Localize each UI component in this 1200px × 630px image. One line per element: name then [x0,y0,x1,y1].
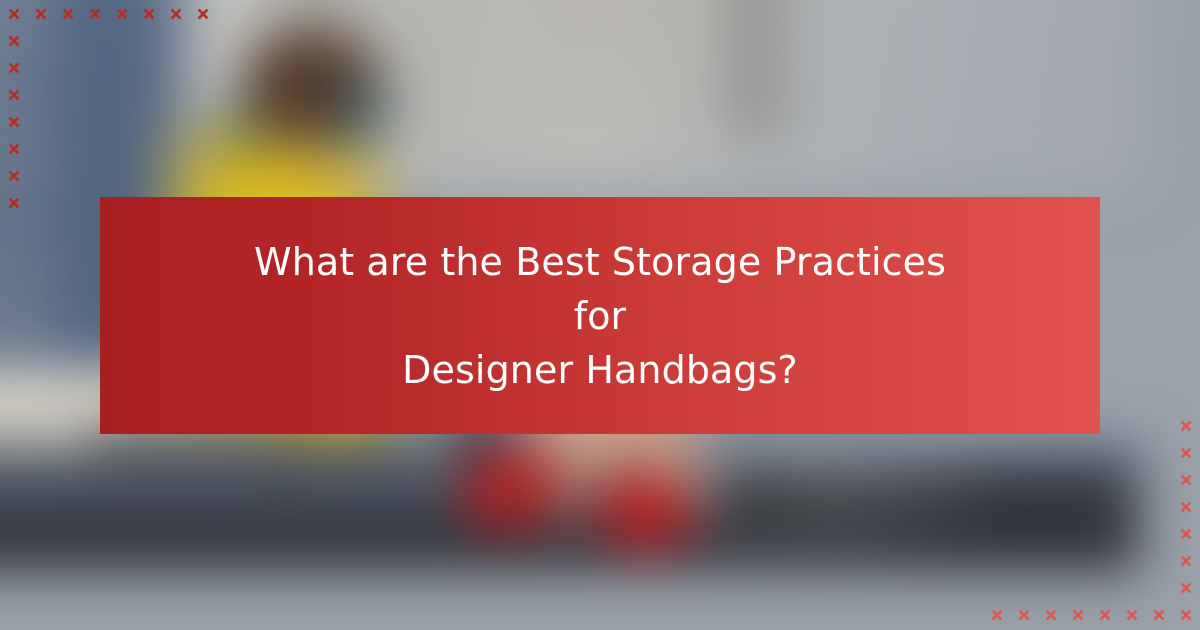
cross-x-icon [189,54,216,81]
cross-x-icon [1145,574,1172,601]
cross-x-icon [27,189,54,216]
decorative-x-grid-top-left [0,0,216,216]
cross-x-icon [54,81,81,108]
cross-x-icon [1145,601,1172,628]
cross-x-icon [135,81,162,108]
cross-x-icon [1010,520,1037,547]
cross-x-icon [1091,601,1118,628]
cross-x-icon [81,0,108,27]
cross-x-icon [983,439,1010,466]
cross-x-icon [27,81,54,108]
cross-x-icon [1064,520,1091,547]
cross-x-icon [54,135,81,162]
cross-x-icon [1037,547,1064,574]
cross-x-icon [1091,520,1118,547]
cross-x-icon [54,108,81,135]
cross-x-icon [983,466,1010,493]
cross-x-icon [108,54,135,81]
cross-x-icon [1037,574,1064,601]
cross-x-icon [1010,439,1037,466]
cross-x-icon [1091,466,1118,493]
cross-x-icon [1118,412,1145,439]
cross-x-icon [1118,439,1145,466]
cross-x-icon [108,81,135,108]
cross-x-icon [1118,520,1145,547]
cross-x-icon [983,601,1010,628]
cross-x-icon [1145,439,1172,466]
cross-x-icon [1064,412,1091,439]
cross-x-icon [162,108,189,135]
cross-x-icon [983,412,1010,439]
cross-x-icon [0,0,27,27]
cross-x-icon [54,54,81,81]
cross-x-icon [1145,520,1172,547]
bg-wall-panel-right [730,0,810,140]
cross-x-icon [135,0,162,27]
cross-x-icon [0,162,27,189]
cross-x-icon [1118,493,1145,520]
cross-x-icon [108,27,135,54]
cross-x-icon [0,135,27,162]
cross-x-icon [1118,547,1145,574]
cross-x-icon [1010,412,1037,439]
cross-x-icon [983,520,1010,547]
cross-x-icon [81,108,108,135]
cross-x-icon [27,162,54,189]
cross-x-icon [189,108,216,135]
cross-x-icon [108,108,135,135]
cross-x-icon [1172,493,1199,520]
cross-x-icon [1037,466,1064,493]
cross-x-icon [1064,601,1091,628]
cross-x-icon [1172,439,1199,466]
cross-x-icon [27,0,54,27]
bg-person-shoulder [320,60,400,170]
cross-x-icon [162,0,189,27]
cross-x-icon [162,27,189,54]
cross-x-icon [0,81,27,108]
cross-x-icon [54,162,81,189]
cross-x-icon [1010,601,1037,628]
cross-x-icon [983,547,1010,574]
cross-x-icon [1118,574,1145,601]
cross-x-icon [1064,574,1091,601]
cross-x-icon [1118,466,1145,493]
cross-x-icon [1091,574,1118,601]
cross-x-icon [1145,466,1172,493]
cross-x-icon [983,574,1010,601]
cross-x-icon [0,27,27,54]
cross-x-icon [162,81,189,108]
cross-x-icon [27,108,54,135]
cross-x-icon [1010,466,1037,493]
cross-x-icon [54,27,81,54]
title-banner: What are the Best Storage Practices for … [100,197,1100,434]
cross-x-icon [27,54,54,81]
cross-x-icon [0,54,27,81]
cross-x-icon [135,135,162,162]
cross-x-icon [1091,493,1118,520]
cross-x-icon [189,0,216,27]
cross-x-icon [81,27,108,54]
cross-x-icon [983,493,1010,520]
cross-x-icon [162,54,189,81]
cross-x-icon [1091,547,1118,574]
cross-x-icon [1064,493,1091,520]
cross-x-icon [189,135,216,162]
cross-x-icon [135,162,162,189]
cross-x-icon [1145,547,1172,574]
cross-x-icon [81,54,108,81]
cross-x-icon [108,135,135,162]
cross-x-icon [189,27,216,54]
cross-x-icon [1010,493,1037,520]
cross-x-icon [1172,574,1199,601]
cross-x-icon [1172,412,1199,439]
cross-x-icon [27,135,54,162]
cross-x-icon [135,27,162,54]
cross-x-icon [1037,493,1064,520]
cross-x-icon [0,189,27,216]
cross-x-icon [1037,412,1064,439]
cross-x-icon [189,81,216,108]
cross-x-icon [1037,520,1064,547]
cross-x-icon [27,27,54,54]
cross-x-icon [162,162,189,189]
cross-x-icon [1037,601,1064,628]
cross-x-icon [1145,412,1172,439]
cross-x-icon [81,135,108,162]
cross-x-icon [1064,466,1091,493]
cross-x-icon [1172,520,1199,547]
cross-x-icon [1172,601,1199,628]
page-title: What are the Best Storage Practices for … [250,235,950,397]
cross-x-icon [108,162,135,189]
cross-x-icon [135,108,162,135]
cross-x-icon [81,81,108,108]
decorative-x-grid-bottom-right [983,412,1199,628]
cross-x-icon [1091,439,1118,466]
cross-x-icon [81,162,108,189]
cross-x-icon [54,0,81,27]
cross-x-icon [1010,574,1037,601]
cross-x-icon [1145,493,1172,520]
cross-x-icon [135,54,162,81]
cross-x-icon [1091,412,1118,439]
cross-x-icon [0,108,27,135]
cross-x-icon [1172,547,1199,574]
cross-x-icon [1010,547,1037,574]
cross-x-icon [1118,601,1145,628]
cross-x-icon [189,162,216,189]
cross-x-icon [108,0,135,27]
cross-x-icon [54,189,81,216]
cross-x-icon [1037,439,1064,466]
cross-x-icon [1064,547,1091,574]
cross-x-icon [1172,466,1199,493]
cross-x-icon [162,135,189,162]
cross-x-icon [1064,439,1091,466]
